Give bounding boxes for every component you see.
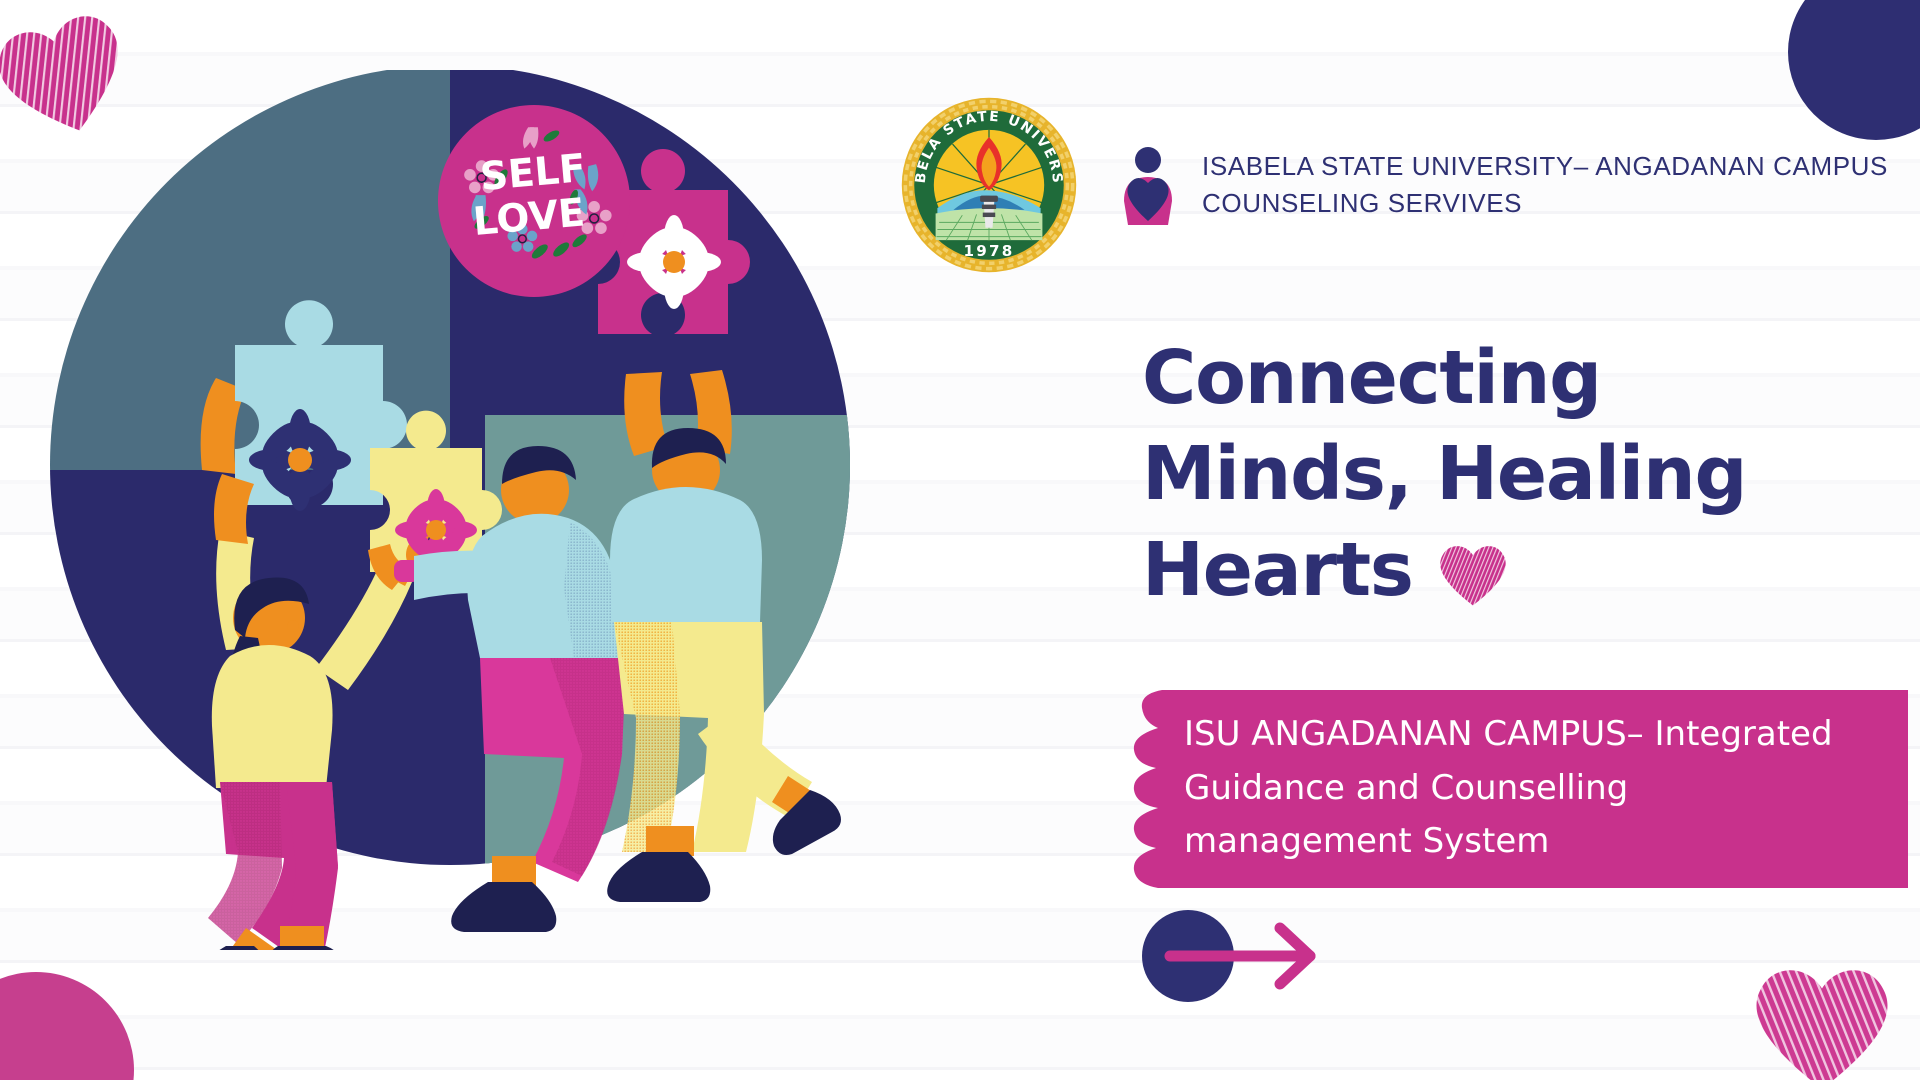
poster-canvas: SELF LOVE [0, 0, 1920, 1080]
headline-line-1: Connecting [1142, 330, 1882, 426]
person-hugging-heart-icon [1120, 145, 1176, 225]
subtitle-banner: ISU ANGADANAN CAMPUS– Integrated Guidanc… [1128, 686, 1918, 902]
headline-line-2: Minds, Healing [1142, 426, 1882, 522]
brand-line-2: COUNSELING SERVIVES [1202, 185, 1888, 222]
banner-line-3: management System [1184, 815, 1884, 869]
scribble-heart-icon [1435, 537, 1511, 607]
brand-header: ISABELA STATE UNIVERSITY 1978 ISABELA ST… [900, 96, 1888, 274]
self-love-badge: SELF LOVE [437, 104, 631, 298]
brand-text-block: ISABELA STATE UNIVERSITY– ANGADANAN CAMP… [1202, 148, 1888, 222]
headline-line-3: Hearts [1142, 527, 1413, 613]
page-title: Connecting Minds, Healing Hearts [1142, 330, 1882, 619]
banner-text-block: ISU ANGADANAN CAMPUS– Integrated Guidanc… [1184, 708, 1884, 869]
scribble-heart-icon [1742, 952, 1902, 1080]
banner-line-1: ISU ANGADANAN CAMPUS– Integrated [1184, 708, 1884, 762]
headline-line-3-wrap: Hearts [1142, 522, 1882, 618]
next-arrow-button[interactable] [1140, 908, 1326, 1004]
svg-text:1978: 1978 [964, 242, 1015, 260]
banner-line-2: Guidance and Counselling [1184, 762, 1884, 816]
brand-line-1: ISABELA STATE UNIVERSITY– ANGADANAN CAMP… [1202, 148, 1888, 185]
isu-seal-icon: ISABELA STATE UNIVERSITY 1978 [900, 96, 1078, 274]
